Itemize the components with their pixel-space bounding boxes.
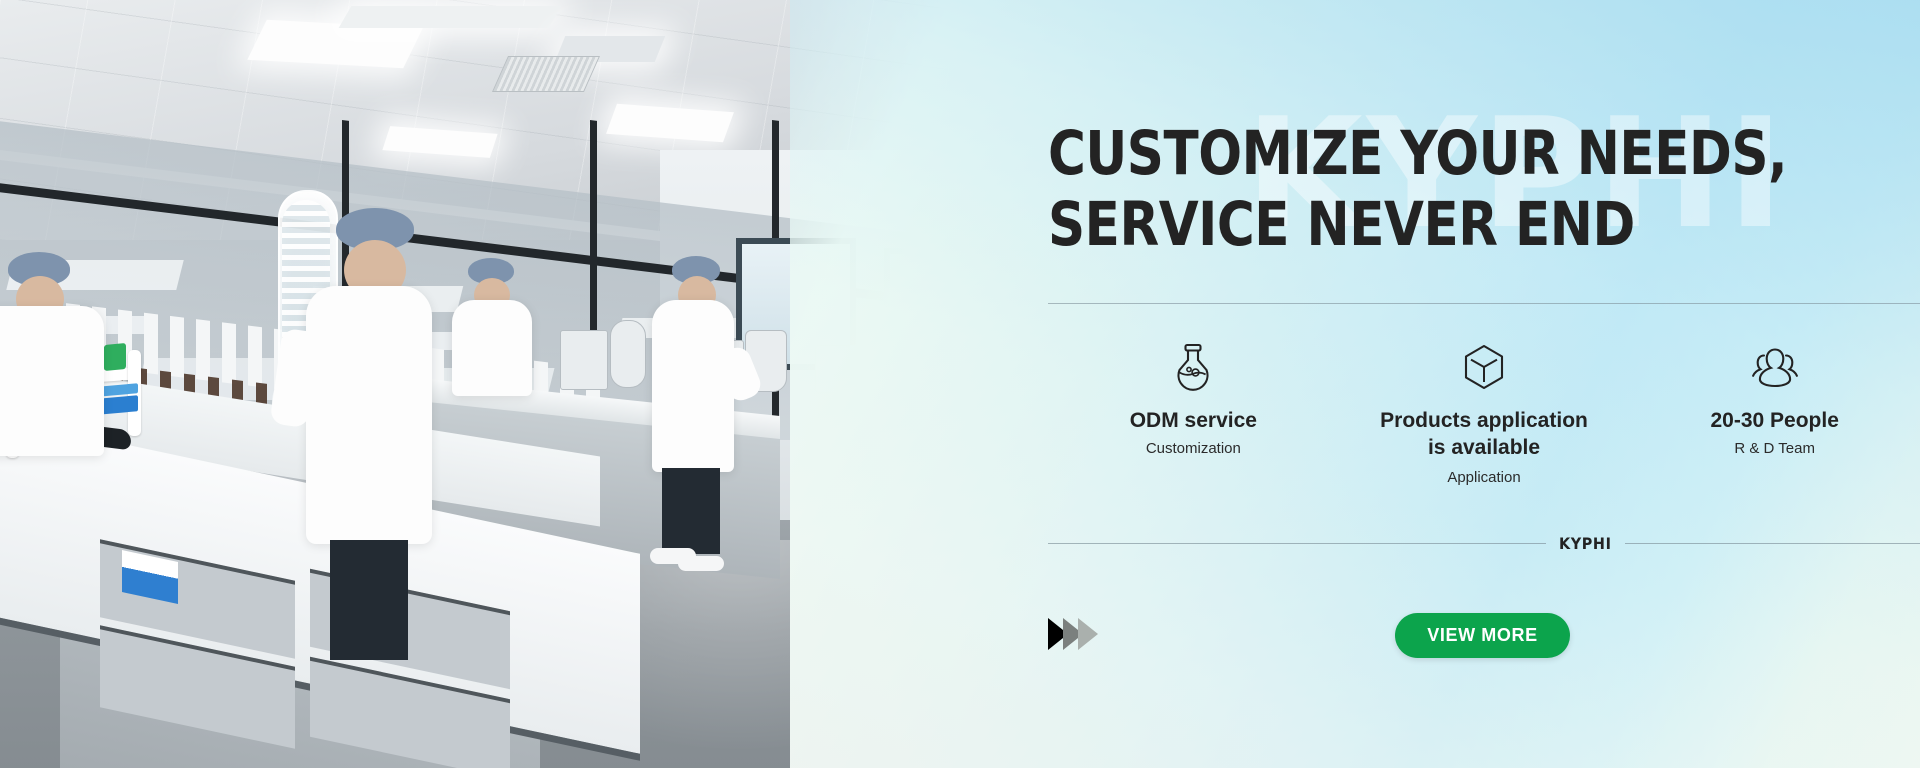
ceiling-vent <box>492 56 600 92</box>
legs <box>662 468 720 554</box>
lab-coat <box>0 306 104 456</box>
lab-equipment <box>610 320 646 388</box>
view-more-button[interactable]: VIEW MORE <box>1395 613 1570 658</box>
lab-coat <box>452 300 532 396</box>
lab-coat <box>306 286 432 544</box>
green-clip <box>104 343 126 371</box>
banner-content: CUSTOMIZE YOUR NEEDS, SERVICE NEVER END … <box>1048 0 1920 768</box>
chevron-3-icon <box>1078 618 1098 650</box>
people-group-icon <box>1629 336 1920 396</box>
feature-item-products-application[interactable]: Products application is available Applic… <box>1339 336 1630 486</box>
feature-subtitle: Application <box>1339 469 1630 486</box>
divider-top <box>1048 303 1920 304</box>
feature-item-odm-service[interactable]: ODM service Customization <box>1048 336 1339 486</box>
ceiling-lamp <box>339 6 562 28</box>
flask-icon <box>1048 336 1339 396</box>
banner-headline: CUSTOMIZE YOUR NEEDS, SERVICE NEVER END <box>1048 119 1875 261</box>
feature-subtitle: R & D Team <box>1629 440 1920 457</box>
feature-item-rd-team[interactable]: 20-30 People R & D Team <box>1629 336 1920 486</box>
brand-name: KYPHI <box>1546 534 1625 553</box>
feature-title: 20-30 People <box>1629 408 1920 435</box>
feature-title: Products application is available <box>1339 408 1630 462</box>
feature-list: ODM service Customization Products appli… <box>1048 336 1920 486</box>
brand-divider: KYPHI <box>1048 536 1920 550</box>
promo-banner: KYPHI CUSTOMIZE YOUR NEEDS, SERVICE NEVE… <box>0 0 1920 768</box>
lab-equipment <box>560 330 608 390</box>
divider-line-left <box>1048 543 1546 544</box>
legs <box>330 540 408 660</box>
cube-box-icon <box>1339 336 1630 396</box>
chevron-group[interactable] <box>1048 618 1093 650</box>
feature-title: ODM service <box>1048 408 1339 435</box>
lab-coat <box>652 300 734 472</box>
feature-subtitle: Customization <box>1048 440 1339 457</box>
divider-line-right <box>1625 543 1920 544</box>
shoe <box>678 556 724 571</box>
